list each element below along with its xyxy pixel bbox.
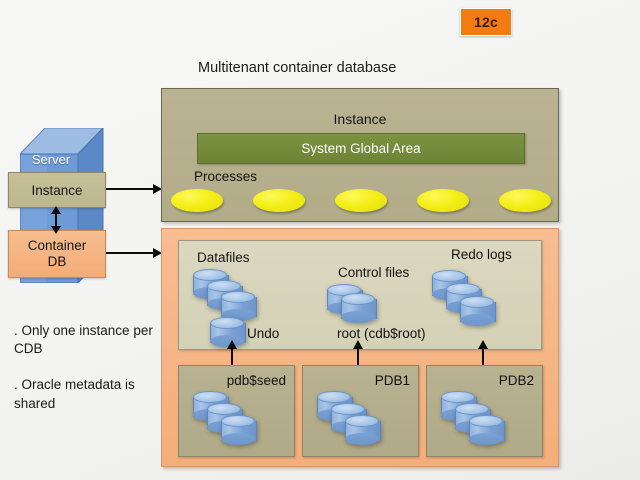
server-label: Server — [20, 152, 82, 167]
process-ellipse — [253, 189, 305, 212]
diagram-canvas: 12c Multitenant container database Serve… — [0, 0, 640, 480]
instance-heading: Instance — [162, 111, 558, 127]
instance-containerdb-link-arrow — [55, 213, 57, 227]
undo-label: Undo — [247, 326, 279, 341]
notes-list: . Only one instance per CDB . Oracle met… — [14, 322, 159, 413]
control-files-label: Control files — [338, 265, 409, 280]
arrow-instance-to-sga — [106, 188, 154, 190]
pdb-box-pdb2: PDB2 — [426, 365, 543, 457]
arrow-pdb2-to-root — [482, 348, 484, 365]
cdb-container: Datafiles Control files Redo logs Undo r… — [161, 228, 559, 467]
processes-row — [171, 189, 551, 215]
processes-label: Processes — [194, 169, 257, 184]
container-db-label: Container DB — [28, 238, 87, 269]
pdb-label: pdb$seed — [227, 373, 286, 388]
control-file-cylinder-icon — [341, 293, 375, 323]
process-ellipse — [335, 189, 387, 212]
pdb-label: PDB2 — [499, 373, 534, 388]
pdb-cylinder-icon — [469, 415, 503, 445]
arrow-containerdb-to-cdb — [106, 252, 154, 254]
root-label: root (cdb$root) — [337, 326, 426, 341]
process-ellipse — [417, 189, 469, 212]
redo-log-cylinder-icon — [460, 296, 494, 326]
diagram-title: Multitenant container database — [198, 60, 396, 76]
note-item: . Only one instance per CDB — [14, 322, 159, 358]
process-ellipse — [171, 189, 223, 212]
server-instance-box: Instance — [8, 172, 106, 208]
pdb-label: PDB1 — [375, 373, 410, 388]
pdb-cylinder-icon — [345, 415, 379, 445]
system-global-area-bar: System Global Area — [197, 133, 525, 164]
pdb-box-pdb1: PDB1 — [302, 365, 419, 457]
note-item: . Oracle metadata is shared — [14, 376, 159, 412]
instance-container: Instance System Global Area Processes — [161, 88, 559, 222]
pdb-cylinder-icon — [221, 415, 255, 445]
redo-logs-label: Redo logs — [451, 247, 512, 262]
pdb-box-pdbseed: pdb$seed — [178, 365, 295, 457]
arrow-pdbseed-to-root — [231, 348, 233, 365]
arrow-pdb1-to-root — [357, 348, 359, 365]
process-ellipse — [499, 189, 551, 212]
server-container-db-box: Container DB — [8, 230, 106, 278]
root-cdbroot-box: Datafiles Control files Redo logs Undo r… — [178, 240, 542, 350]
datafiles-label: Datafiles — [197, 250, 250, 265]
version-badge-12c: 12c — [460, 8, 512, 36]
